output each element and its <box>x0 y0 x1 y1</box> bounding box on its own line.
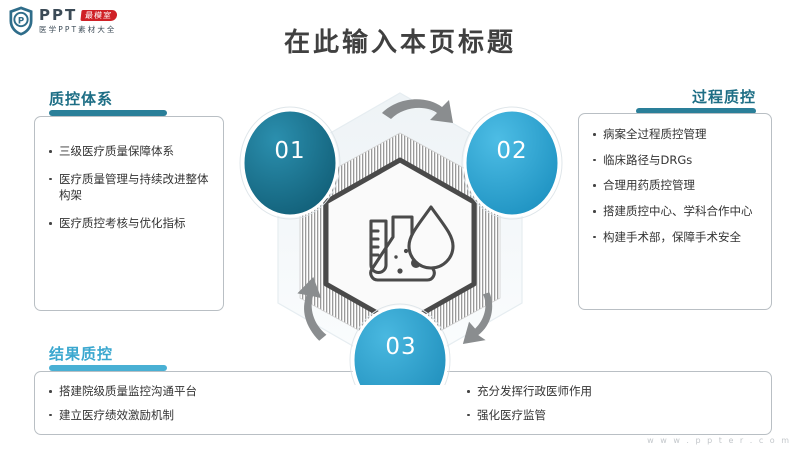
step-number-01: 01 <box>265 138 315 164</box>
list-item: 充分发挥行政医师作用 <box>464 383 764 400</box>
page-title: 在此输入本页标题 <box>0 22 800 59</box>
list-item: 医疗质量管理与持续改进整体构架 <box>46 171 213 204</box>
list-item: 建立医疗绩效激励机制 <box>46 407 464 424</box>
heading-result-control: 结果质控 <box>49 343 113 364</box>
step-number-03: 03 <box>376 334 426 360</box>
list-item: 合理用药质控管理 <box>590 177 763 194</box>
logo-badge: 最模室 <box>81 10 118 21</box>
footer-watermark: w w w . p p t e r . c o m <box>647 436 791 445</box>
heading-left-label: 质控体系 <box>49 90 113 108</box>
list-item: 强化医疗监管 <box>464 407 764 424</box>
bullet-list-left: 三级医疗质量保障体系 医疗质量管理与持续改进整体构架 医疗质控考核与优化指标 <box>35 117 223 232</box>
slide-canvas: P PPT 最模室 医学PPT素材大全 在此输入本页标题 质控体系 过程质控 结… <box>0 0 800 450</box>
heading-process-control: 过程质控 <box>692 86 756 107</box>
panel-process-control: 病案全过程质控管理 临床路径与DRGs 合理用药质控管理 搭建质控中心、学科合作… <box>578 113 772 310</box>
step-number-02: 02 <box>487 138 537 164</box>
logo-brand: PPT <box>39 8 77 23</box>
heading-right-label: 过程质控 <box>692 88 756 106</box>
bottom-column-right: 充分发挥行政医师作用 强化医疗监管 <box>464 383 764 430</box>
list-item: 搭建质控中心、学科合作中心 <box>590 203 763 220</box>
list-item: 医疗质控考核与优化指标 <box>46 215 213 232</box>
heading-bottom-label: 结果质控 <box>49 345 113 363</box>
bullet-list-bottom-left: 搭建院级质量监控沟通平台 建立医疗绩效激励机制 <box>46 383 464 423</box>
bullet-list-right: 病案全过程质控管理 临床路径与DRGs 合理用药质控管理 搭建质控中心、学科合作… <box>579 114 771 245</box>
list-item: 构建手术部，保障手术安全 <box>590 229 763 246</box>
list-item: 临床路径与DRGs <box>590 152 763 169</box>
bullet-list-bottom-right: 充分发挥行政医师作用 强化医疗监管 <box>464 383 764 423</box>
panel-quality-system: 三级医疗质量保障体系 医疗质量管理与持续改进整体构架 医疗质控考核与优化指标 <box>34 116 224 311</box>
list-item: 病案全过程质控管理 <box>590 126 763 143</box>
list-item: 三级医疗质量保障体系 <box>46 143 213 160</box>
heading-quality-system: 质控体系 <box>49 88 113 109</box>
bottom-column-left: 搭建院级质量监控沟通平台 建立医疗绩效激励机制 <box>46 383 464 430</box>
list-item: 搭建院级质量监控沟通平台 <box>46 383 464 400</box>
